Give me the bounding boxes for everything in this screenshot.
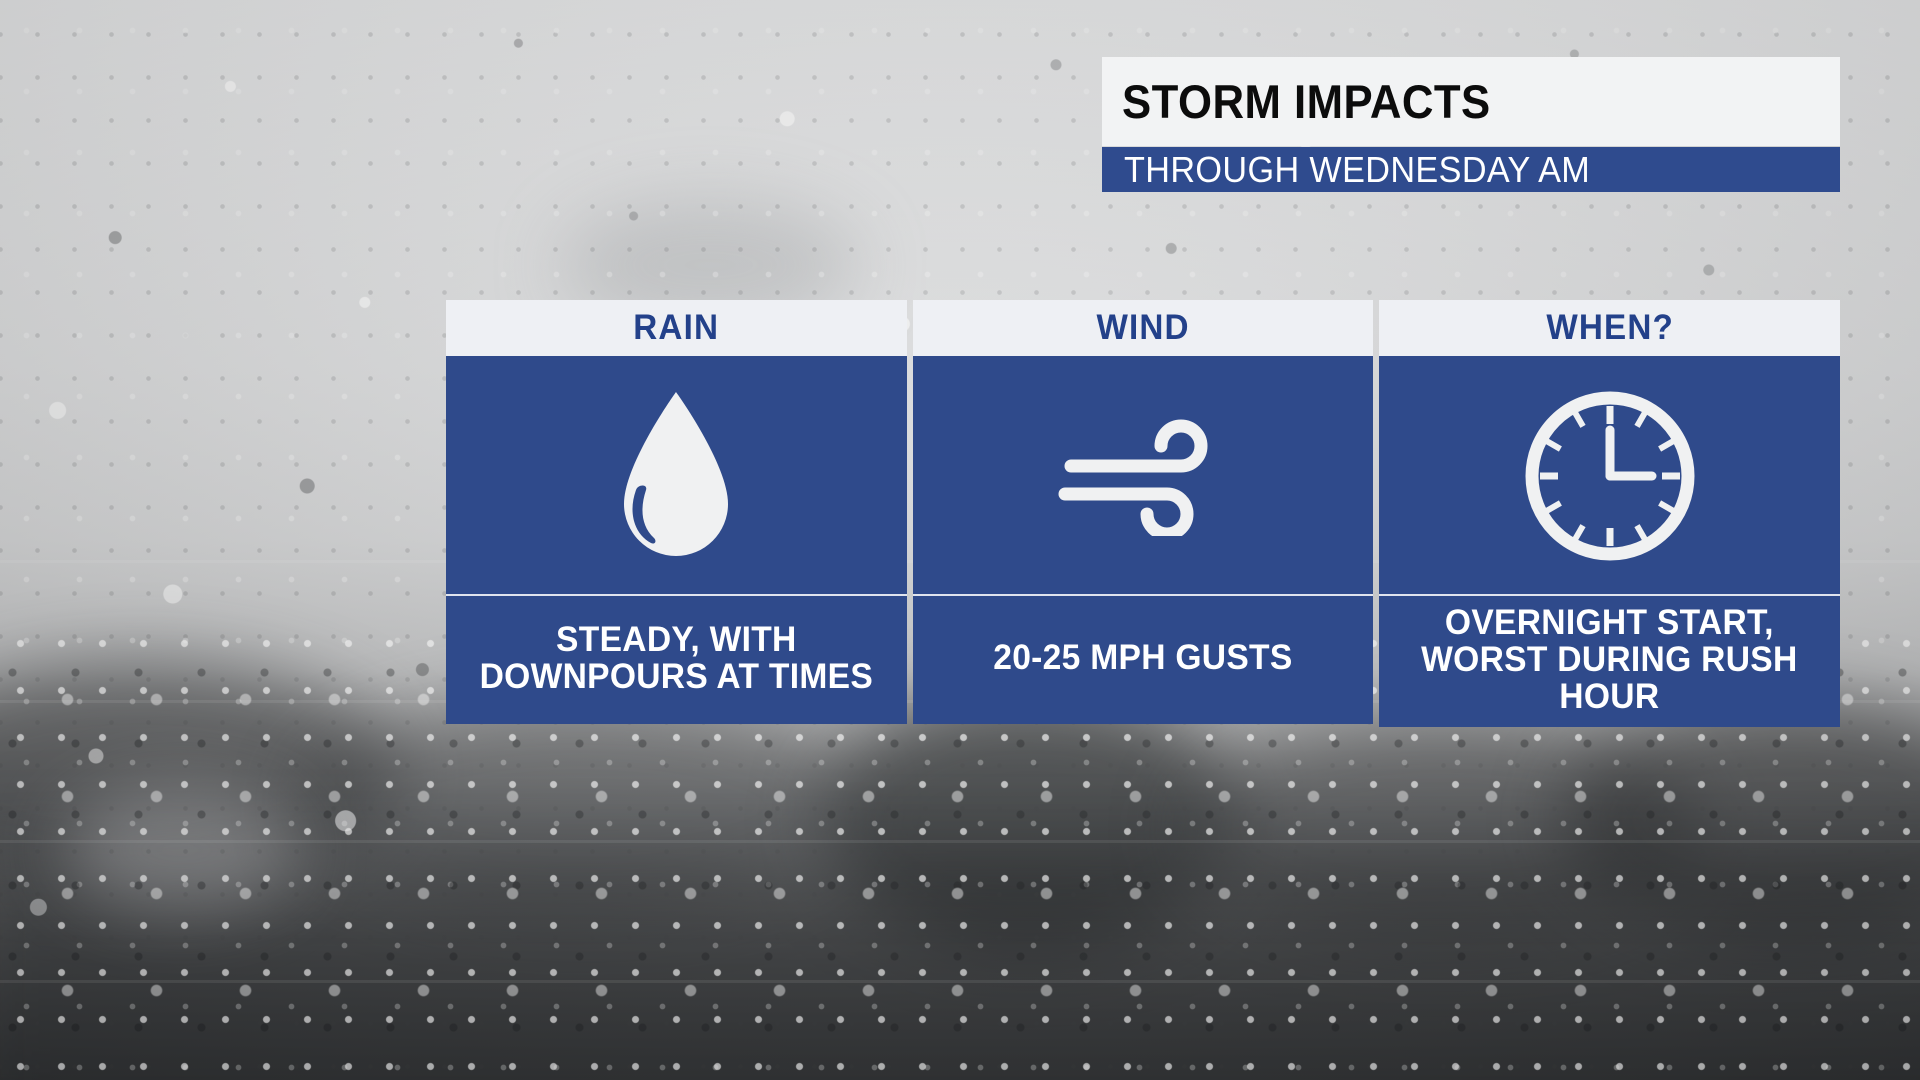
column-header-label: WHEN? <box>1546 308 1674 348</box>
column-header-label: RAIN <box>633 308 719 348</box>
weather-graphic-stage: STORM IMPACTS THROUGH WEDNESDAY AM RAIN … <box>0 0 1920 1080</box>
column-text-cell-wind: 20-25 MPH GUSTS <box>913 596 1374 724</box>
column-header-label: WIND <box>1096 308 1189 348</box>
column-text-cell-when: OVERNIGHT START, WORST DURING RUSH HOUR <box>1379 596 1840 727</box>
title-panel: STORM IMPACTS <box>1102 57 1840 146</box>
column-header-rain: RAIN <box>446 300 907 356</box>
column-header-wind: WIND <box>913 300 1374 356</box>
water-droplet-icon <box>610 386 742 566</box>
impact-column-rain: RAIN STEADY, WITH DOWNPOURS AT TIMES <box>446 300 907 727</box>
column-body-text: STEADY, WITH DOWNPOURS AT TIMES <box>465 621 888 695</box>
column-body-text: OVERNIGHT START, WORST DURING RUSH HOUR <box>1398 604 1821 715</box>
clock-icon <box>1522 388 1698 564</box>
subtitle-bar: THROUGH WEDNESDAY AM <box>1102 147 1840 192</box>
storm-impacts-table: RAIN STEADY, WITH DOWNPOURS AT TIMES WIN… <box>446 300 1840 727</box>
column-text-cell-rain: STEADY, WITH DOWNPOURS AT TIMES <box>446 596 907 724</box>
column-body-text: 20-25 MPH GUSTS <box>993 639 1292 676</box>
subtitle-text: THROUGH WEDNESDAY AM <box>1124 149 1590 191</box>
column-icon-cell-when <box>1379 356 1840 596</box>
column-icon-cell-wind <box>913 356 1374 596</box>
impact-column-when: WHEN? <box>1379 300 1840 727</box>
page-title: STORM IMPACTS <box>1122 74 1491 129</box>
column-header-when: WHEN? <box>1379 300 1840 356</box>
impact-column-wind: WIND 20-25 MPH GUSTS <box>913 300 1374 727</box>
column-icon-cell-rain <box>446 356 907 596</box>
wind-icon <box>1055 416 1231 536</box>
